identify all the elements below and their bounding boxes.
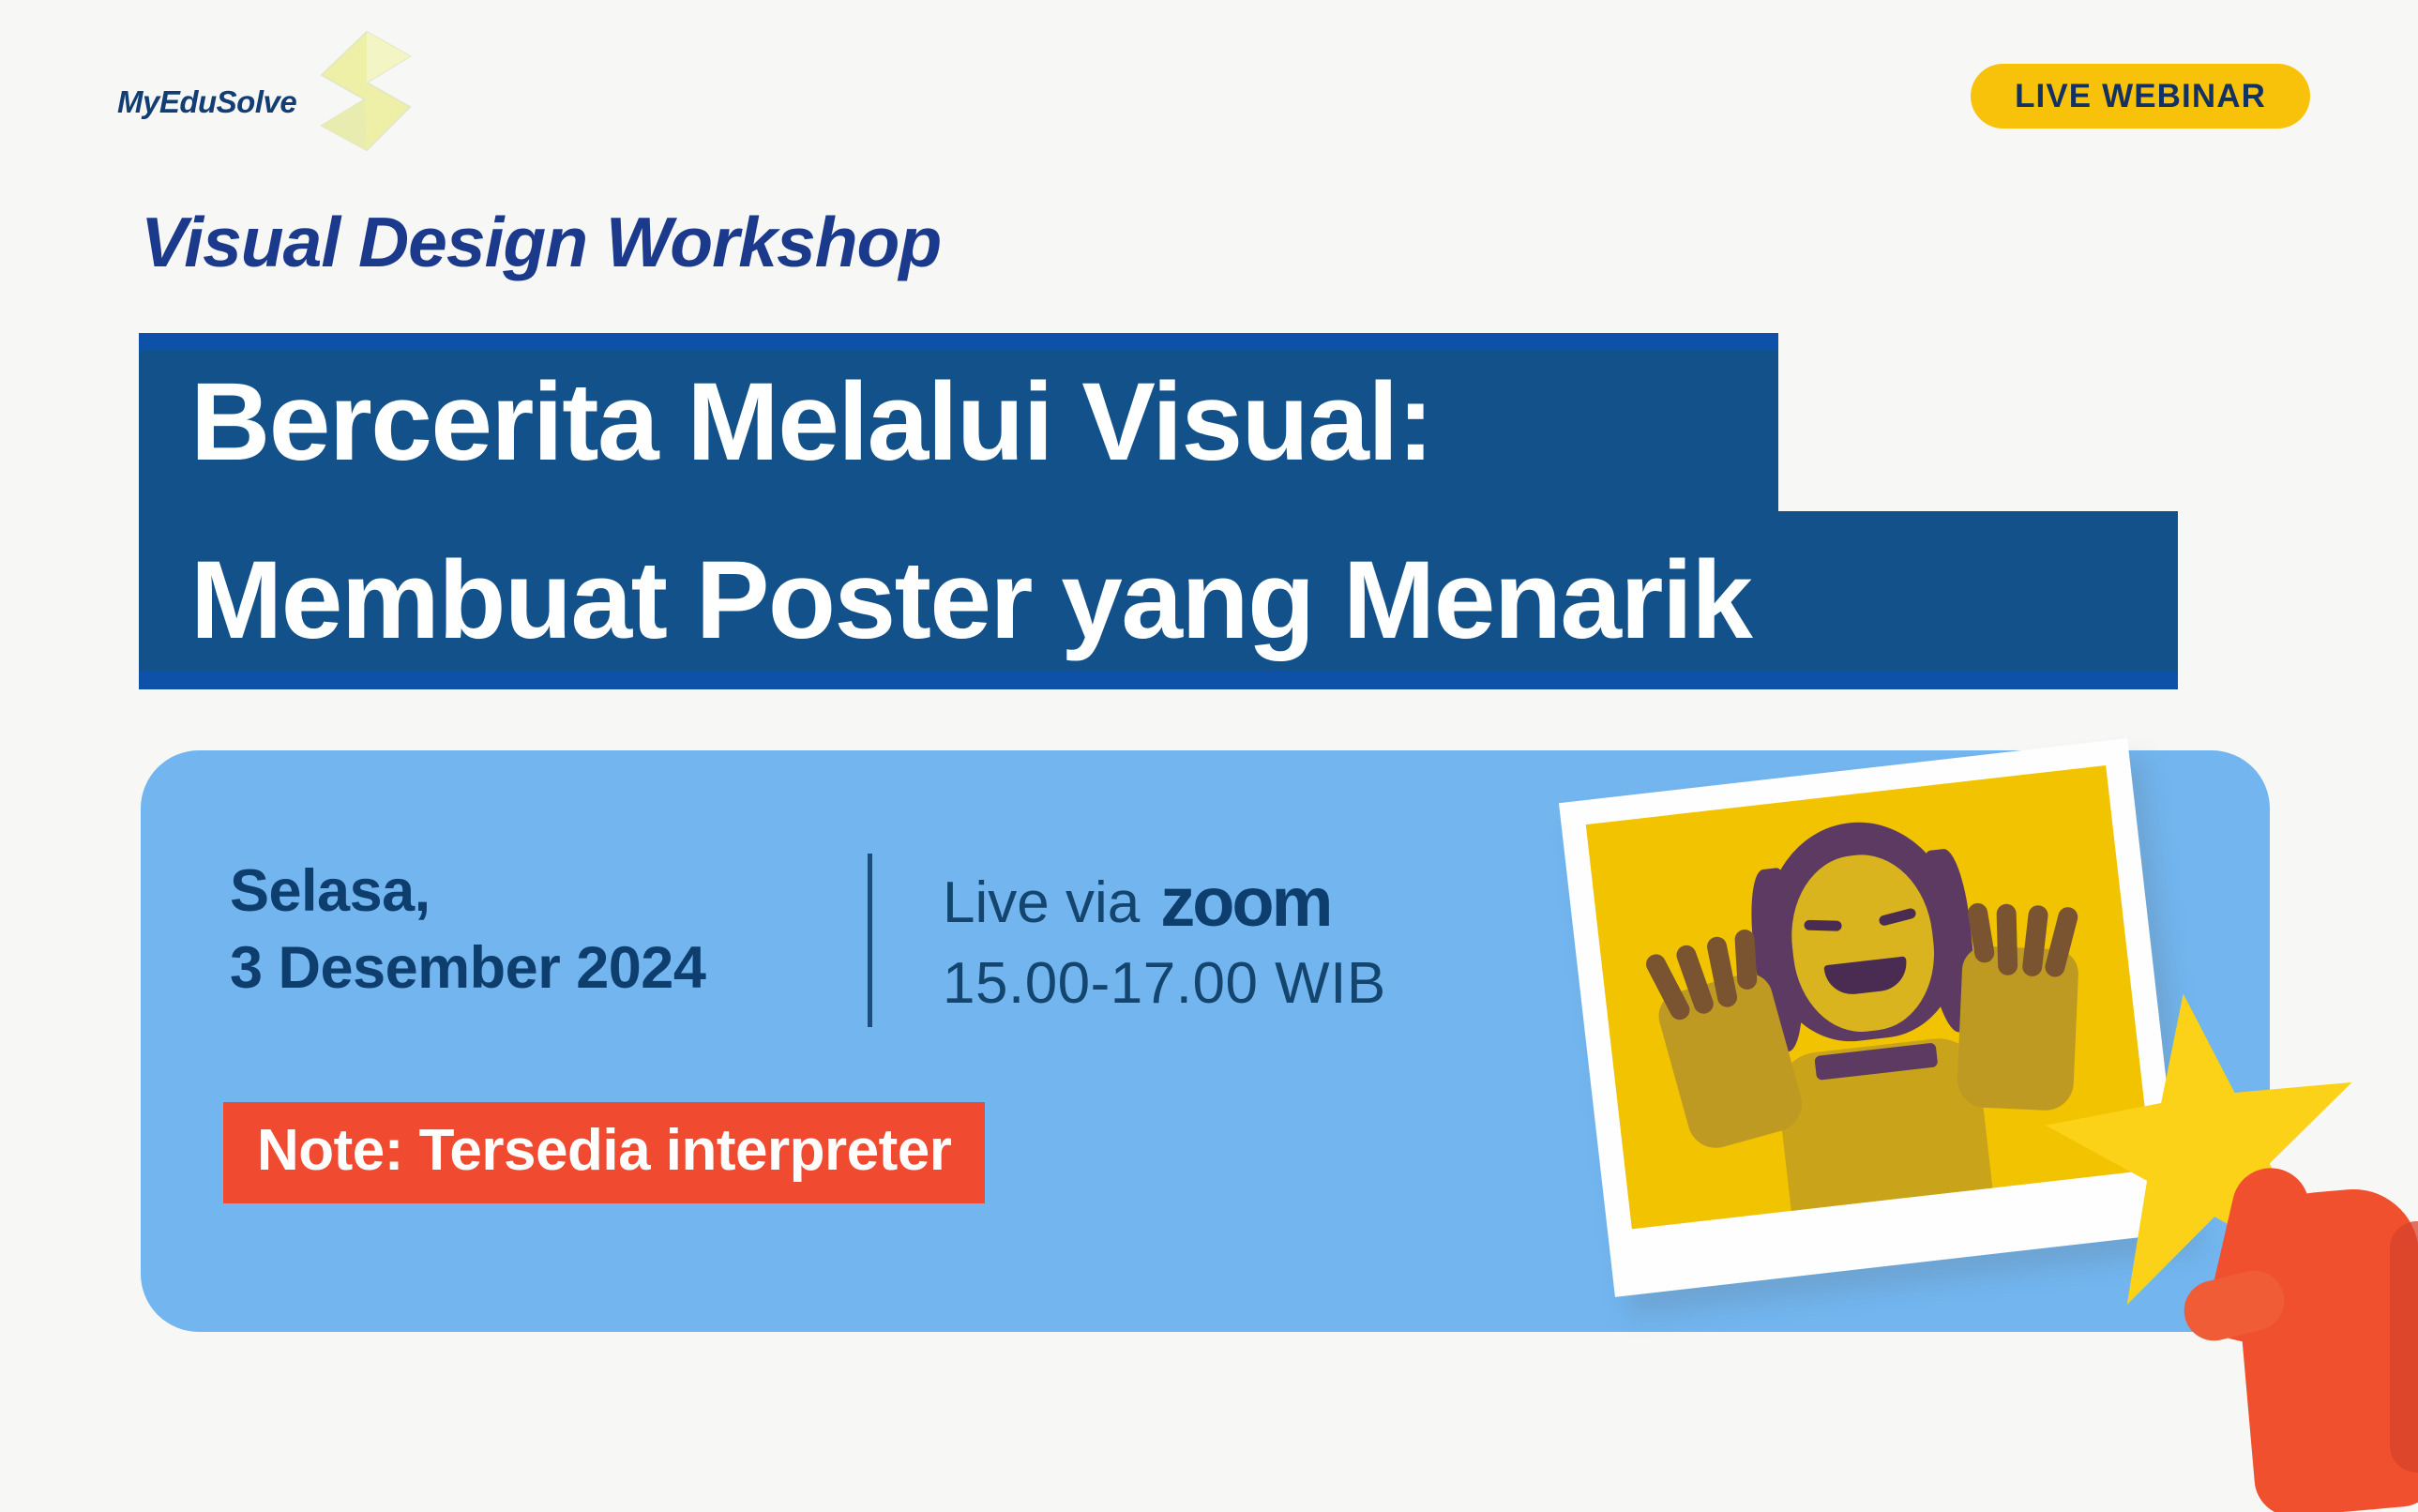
event-date: Selasa, 3 Desember 2024 — [230, 854, 705, 1007]
finger — [1734, 930, 1758, 990]
child-hand-right — [1957, 945, 2079, 1111]
finger — [1967, 902, 1996, 965]
finger — [1996, 904, 2018, 976]
event-day: Selasa, — [230, 854, 705, 930]
eyebrow-heading: Visual Design Workshop — [141, 202, 941, 282]
polaroid-photo — [1586, 765, 2153, 1229]
title-band-primary: Bercerita Melalui Visual: — [139, 333, 1778, 511]
event-time: Live via zoom 15.00-17.00 WIB — [943, 852, 1386, 1022]
hand-holding-star — [2176, 1135, 2418, 1512]
title-line-2: Membuat Poster yang Menarik — [190, 537, 1751, 664]
event-time-range: 15.00-17.00 WIB — [943, 945, 1386, 1022]
title-line-1: Bercerita Melalui Visual: — [190, 358, 1432, 486]
child-eye-left — [1804, 920, 1841, 931]
webinar-poster: MyEduSolve LIVE WEBINAR Visual Design Wo… — [0, 0, 2418, 1512]
event-artwork — [1529, 741, 2418, 1512]
platform-row: Live via zoom — [943, 852, 1386, 945]
finger — [2043, 905, 2079, 979]
title-band-secondary: Membuat Poster yang Menarik — [139, 511, 2178, 689]
polaroid-frame — [1559, 738, 2184, 1297]
interpreter-note: Note: Tersedia interpreter — [223, 1102, 985, 1203]
vertical-divider — [868, 854, 872, 1027]
zoom-wordmark: zoom — [1160, 855, 1330, 948]
ribbon-mark-icon — [312, 28, 420, 155]
event-date-value: 3 Desember 2024 — [230, 930, 705, 1007]
hand-shadow — [2390, 1221, 2418, 1473]
brand-logo: MyEduSolve — [117, 28, 399, 155]
brand-logo-text: MyEduSolve — [117, 84, 296, 120]
live-webinar-badge: LIVE WEBINAR — [1971, 64, 2310, 129]
platform-prefix: Live via — [943, 864, 1140, 942]
